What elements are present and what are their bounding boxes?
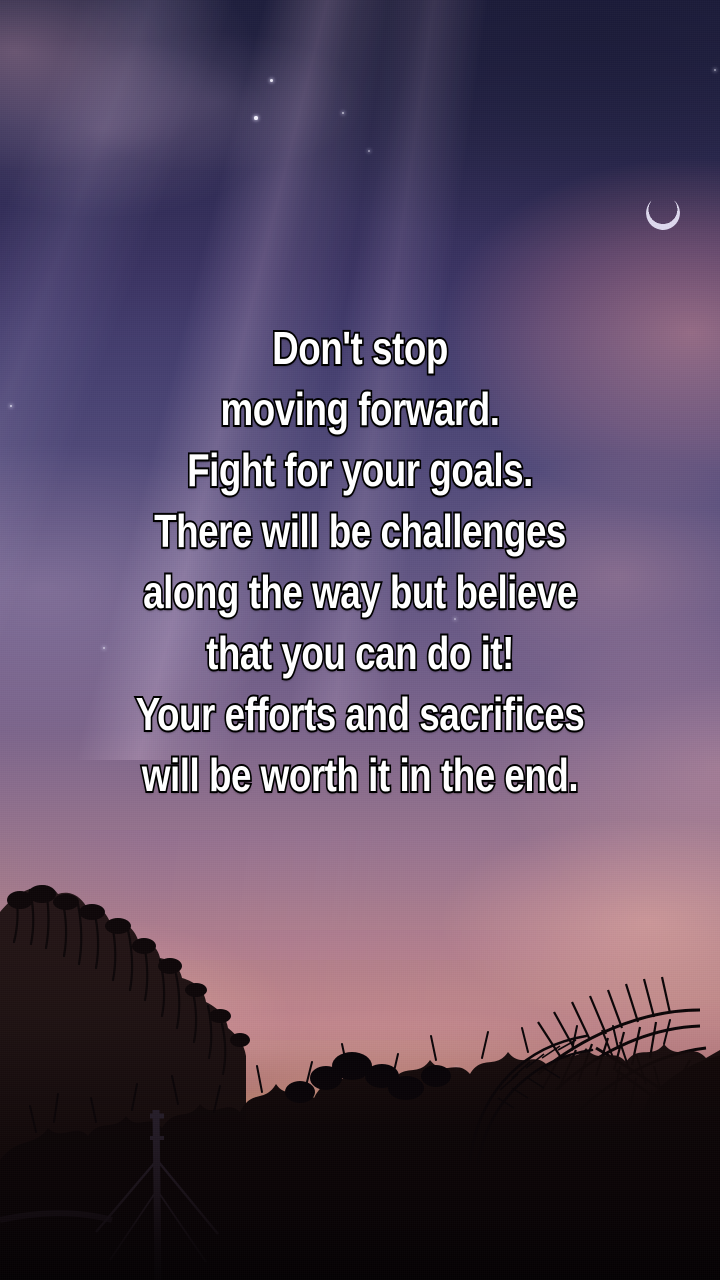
quote-line: moving forward. <box>72 379 648 440</box>
star-icon <box>368 150 370 152</box>
quote-line: Fight for your goals. <box>72 440 648 501</box>
foreground-silhouette-layer <box>0 860 720 1280</box>
star-icon <box>714 69 716 71</box>
quote-line: Your efforts and sacrifices <box>72 684 648 745</box>
quote-wallpaper-poster: Don't stopmoving forward.Fight for your … <box>0 0 720 1280</box>
star-icon <box>254 116 258 120</box>
quote-text-block: Don't stopmoving forward.Fight for your … <box>0 318 720 806</box>
crescent-moon-icon <box>639 189 687 237</box>
star-icon <box>342 112 344 114</box>
quote-line: will be worth it in the end. <box>72 745 648 806</box>
quote-line: along the way but believe <box>72 562 648 623</box>
quote-line: Don't stop <box>72 318 648 379</box>
star-icon <box>270 79 273 82</box>
quote-line: that you can do it! <box>72 623 648 684</box>
quote-line: There will be challenges <box>72 501 648 562</box>
